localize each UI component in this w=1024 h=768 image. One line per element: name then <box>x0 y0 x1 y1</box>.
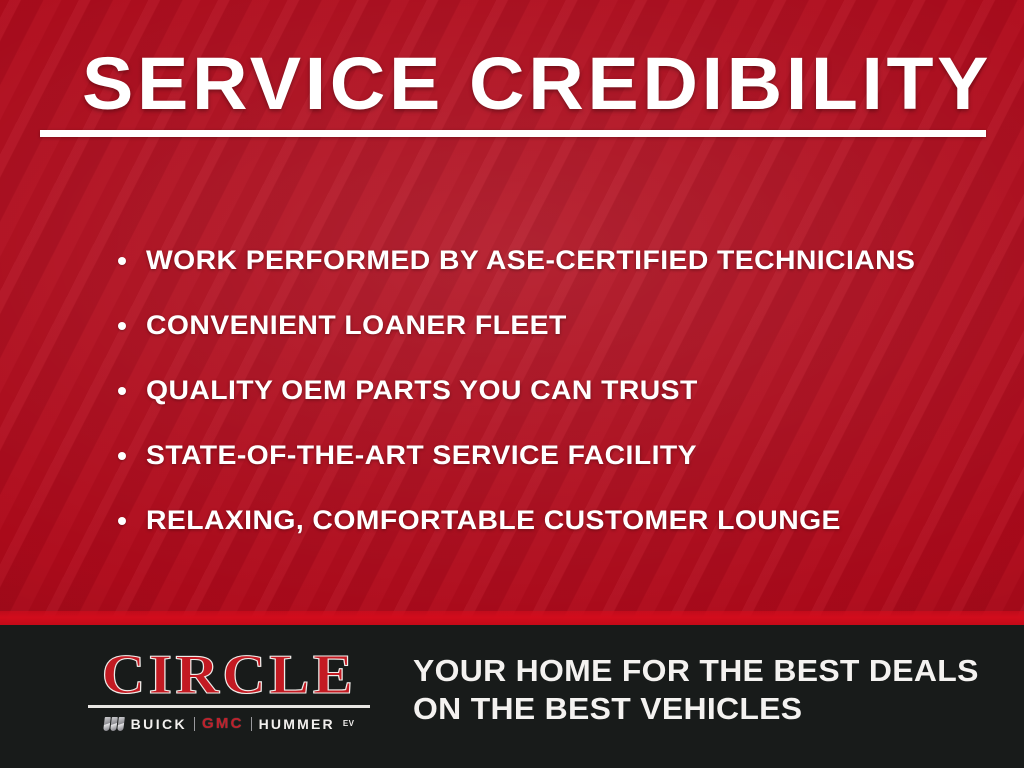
footer-tagline-line1: YOUR HOME FOR THE BEST DEALS <box>413 652 979 690</box>
list-item-label: WORK PERFORMED BY ASE-CERTIFIED TECHNICI… <box>146 245 915 276</box>
bullet-dot-icon <box>118 452 126 460</box>
title-underline-rule <box>40 130 986 137</box>
brand-label-hummer-ev-suffix: EV <box>343 719 354 728</box>
list-item-label: STATE-OF-THE-ART SERVICE FACILITY <box>146 440 697 471</box>
bullet-dot-icon <box>118 322 126 330</box>
brand-separator-icon <box>251 717 252 731</box>
brand-label-hummer: HUMMER <box>259 716 335 732</box>
bullet-dot-icon <box>118 387 126 395</box>
brand-label-gmc: GMC <box>202 715 244 732</box>
list-item: RELAXING, COMFORTABLE CUSTOMER LOUNGE <box>118 488 998 553</box>
bullet-dot-icon <box>118 517 126 525</box>
list-item: CONVENIENT LOANER FLEET <box>118 293 998 358</box>
list-item-label: CONVENIENT LOANER FLEET <box>146 310 567 341</box>
list-item-label: RELAXING, COMFORTABLE CUSTOMER LOUNGE <box>146 505 841 536</box>
footer-tagline: YOUR HOME FOR THE BEST DEALS ON THE BEST… <box>413 652 979 728</box>
logo-wordmark: CIRCLE <box>77 648 382 702</box>
brand-lockup-row: BUICK GMC HUMMER EV <box>88 715 370 732</box>
accent-band <box>0 611 1024 625</box>
dealership-logo: CIRCLE BUICK GMC HUMMER EV <box>88 648 370 732</box>
bullet-dot-icon <box>118 257 126 265</box>
list-item: WORK PERFORMED BY ASE-CERTIFIED TECHNICI… <box>118 228 998 293</box>
feature-bullet-list: WORK PERFORMED BY ASE-CERTIFIED TECHNICI… <box>118 228 998 553</box>
marketing-slide: SERVICE CREDIBILITY WORK PERFORMED BY AS… <box>0 0 1024 768</box>
page-title: SERVICE CREDIBILITY <box>82 45 997 123</box>
buick-tri-shield-icon <box>104 717 124 731</box>
list-item-label: QUALITY OEM PARTS YOU CAN TRUST <box>146 375 698 406</box>
list-item: STATE-OF-THE-ART SERVICE FACILITY <box>118 423 998 488</box>
list-item: QUALITY OEM PARTS YOU CAN TRUST <box>118 358 998 423</box>
brand-separator-icon <box>194 717 195 731</box>
footer-tagline-line2: ON THE BEST VEHICLES <box>413 690 979 728</box>
brand-label-buick: BUICK <box>131 716 187 732</box>
